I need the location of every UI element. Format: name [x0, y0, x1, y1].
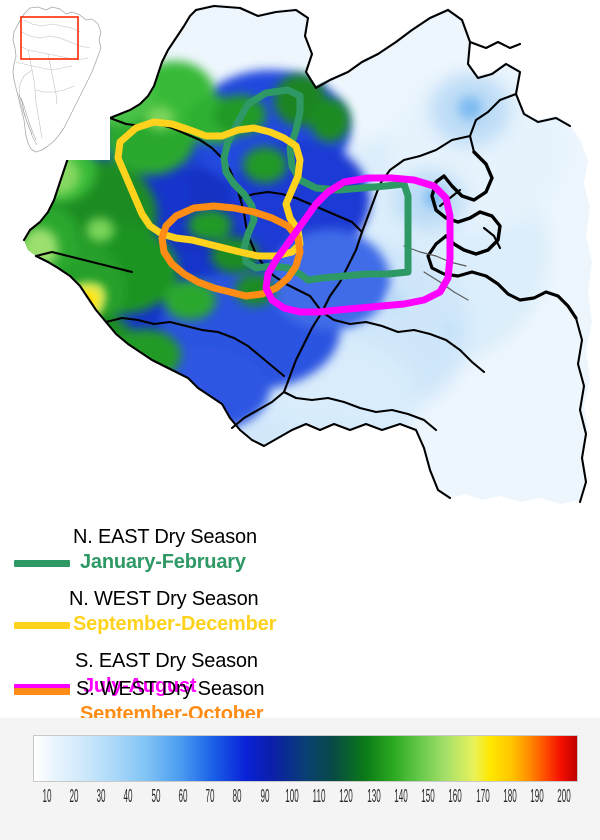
map-panel: [0, 0, 600, 512]
legend-entry-north-west: N. WEST Dry Season September-December: [0, 574, 600, 599]
legend-swatch-south-west: [14, 688, 70, 695]
colorbar-panel: 1020304050607080901001101201301401501601…: [0, 718, 600, 840]
legend-entry-south-west: S. WEST Dry Season September-October: [0, 684, 600, 709]
legend-header-north-west: N. WEST Dry Season: [69, 588, 258, 611]
colorbar-tick-70: 70: [201, 786, 219, 807]
colorbar-tick-30: 30: [92, 786, 110, 807]
colorbar-tick-40: 40: [119, 786, 137, 807]
colorbar-tick-130: 130: [365, 786, 383, 807]
legend-months-north-east: January-February: [80, 551, 246, 574]
colorbar-tick-90: 90: [256, 786, 274, 807]
legend-header-south-east: S. EAST Dry Season: [75, 650, 258, 673]
south-america-locator-inset: [2, 2, 110, 160]
colorbar-tick-60: 60: [174, 786, 192, 807]
colorbar-tick-180: 180: [501, 786, 519, 807]
colorbar-tick-20: 20: [65, 786, 83, 807]
colorbar-tick-10: 10: [38, 786, 56, 807]
colorbar-tick-190: 190: [528, 786, 546, 807]
colorbar-tick-120: 120: [337, 786, 355, 807]
colorbar-tick-200: 200: [555, 786, 573, 807]
colorbar-tick-140: 140: [392, 786, 410, 807]
colorbar-tick-150: 150: [419, 786, 437, 807]
legend-months-north-west: September-December: [73, 613, 276, 636]
dry-season-legend: N. EAST Dry Season January-February N. W…: [0, 512, 600, 720]
colorbar-tick-50: 50: [147, 786, 165, 807]
colorbar-gradient: [33, 735, 578, 782]
colorbar-tick-170: 170: [474, 786, 492, 807]
legend-entry-south-east: S. EAST Dry Season July-August: [0, 636, 600, 661]
legend-header-south-west: S. WEST Dry Season: [76, 678, 264, 701]
legend-swatch-north-west: [14, 622, 70, 629]
legend-header-north-east: N. EAST Dry Season: [73, 526, 257, 549]
colorbar-tick-80: 80: [228, 786, 246, 807]
colorbar-tick-160: 160: [446, 786, 464, 807]
inset-background: [2, 2, 110, 160]
legend-entry-north-east: N. EAST Dry Season January-February: [0, 512, 600, 537]
legend-swatch-north-east: [14, 560, 70, 567]
colorbar-tick-110: 110: [310, 786, 328, 807]
colorbar-tick-100: 100: [283, 786, 301, 807]
